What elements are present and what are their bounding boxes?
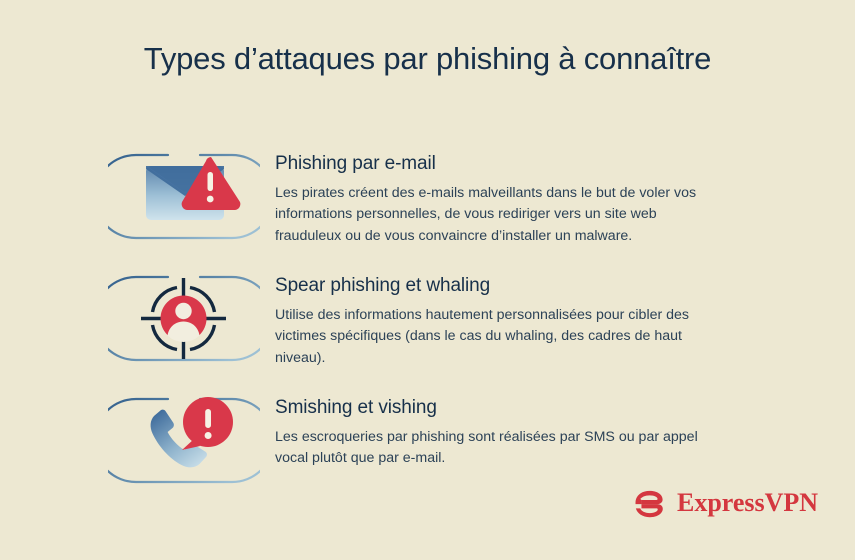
item-description: Les escroqueries par phishing sont réali… — [275, 427, 720, 470]
alert-bubble-icon — [182, 397, 233, 450]
infographic-canvas: Types d’attaques par phishing à connaîtr… — [0, 0, 855, 560]
item-title: Smishing et vishing — [275, 397, 725, 420]
item-title: Spear phishing et whaling — [275, 275, 725, 298]
item-description: Utilise des informations hautement perso… — [275, 305, 720, 370]
icon-cell — [0, 148, 275, 246]
expressvpn-e-mark-icon — [632, 485, 668, 521]
item-description: Les pirates créent des e-mails malveilla… — [275, 183, 720, 248]
page-title: Types d’attaques par phishing à connaîtr… — [0, 40, 855, 79]
email-alert-icon — [108, 150, 260, 244]
text-cell: Spear phishing et whaling Utilise des in… — [275, 270, 725, 370]
expressvpn-logo: ExpressVPN — [632, 485, 818, 521]
icon-cell — [0, 270, 275, 368]
phone-alert-icon — [108, 394, 260, 488]
text-cell: Smishing et vishing Les escroqueries par… — [275, 392, 725, 470]
icon-cell — [0, 392, 275, 490]
text-cell: Phishing par e-mail Les pirates créent d… — [275, 148, 725, 248]
logo-wordmark: ExpressVPN — [677, 490, 818, 516]
item-title: Phishing par e-mail — [275, 153, 725, 176]
list-item: Spear phishing et whaling Utilise des in… — [0, 270, 855, 370]
list-item: Smishing et vishing Les escroqueries par… — [0, 392, 855, 490]
list-item: Phishing par e-mail Les pirates créent d… — [0, 148, 855, 248]
target-person-icon — [108, 272, 260, 366]
